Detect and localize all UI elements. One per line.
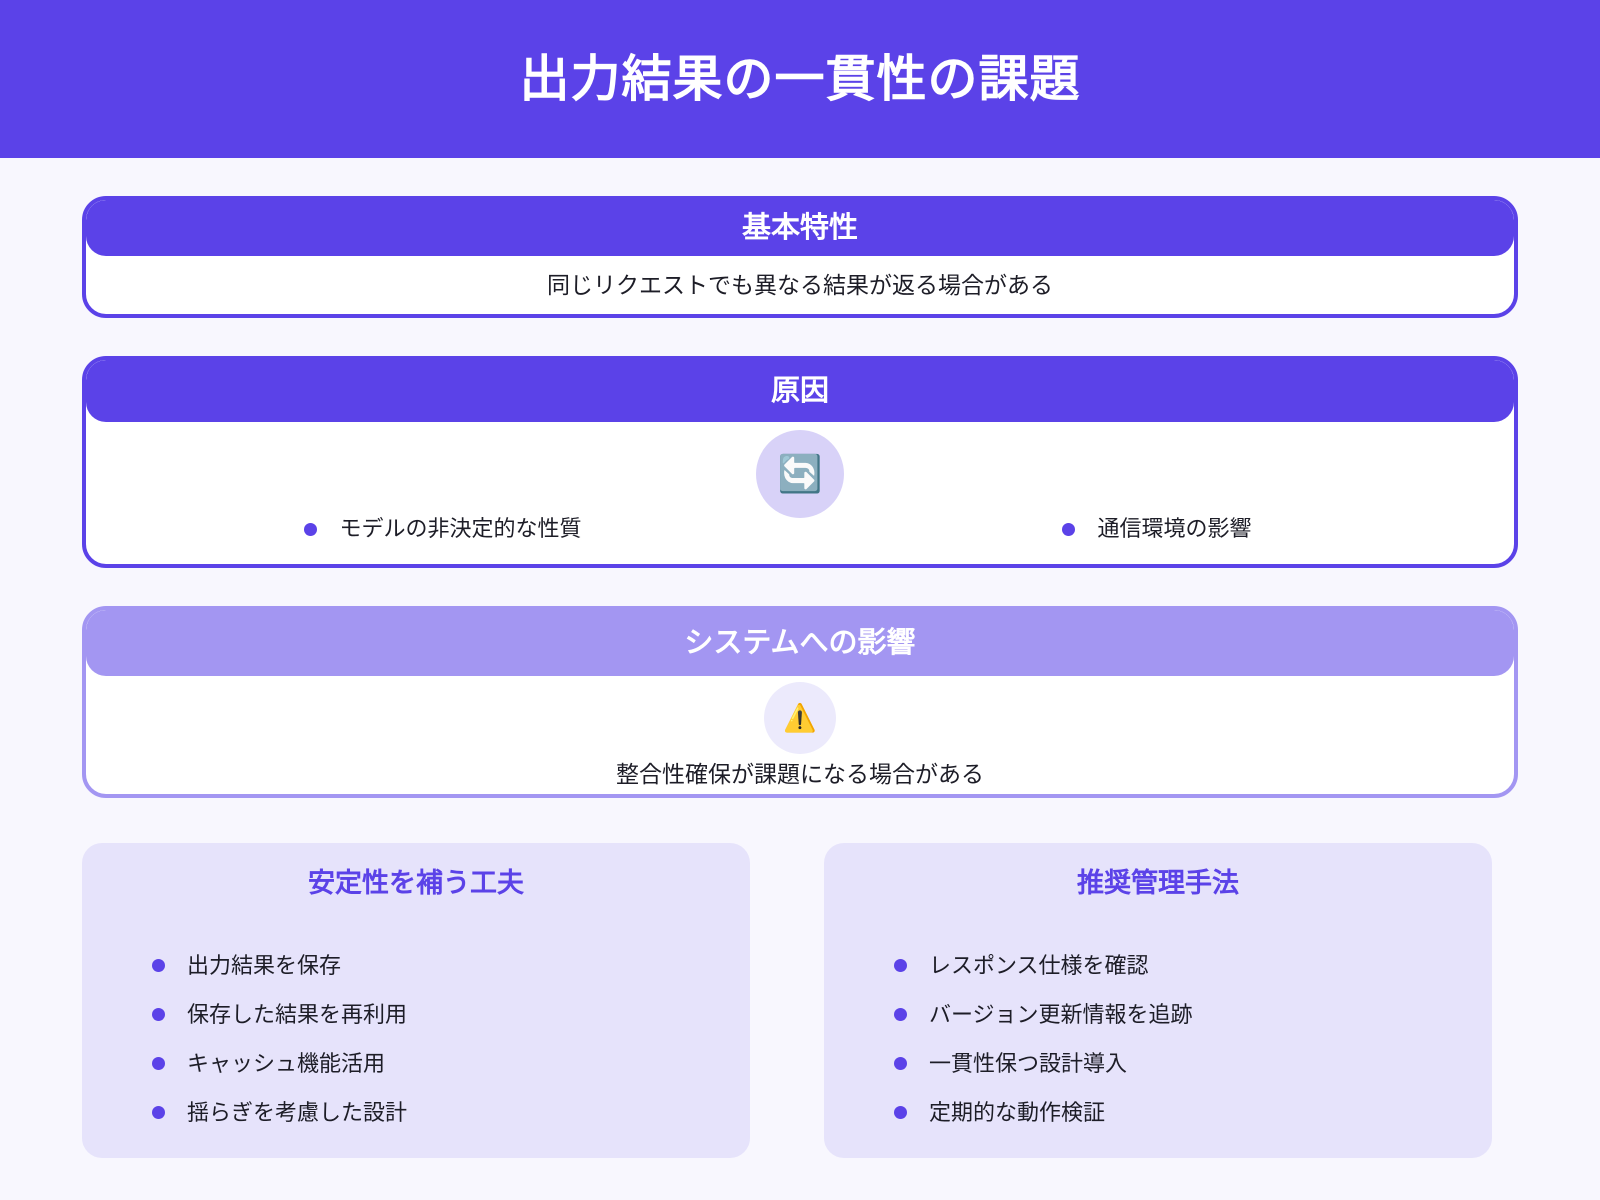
infographic-page: 出力結果の一貫性の課題 基本特性 同じリクエストでも異なる結果が返る場合がある … (0, 0, 1600, 1200)
panel-stability-measures: 安定性を補う工夫 出力結果を保存 保存した結果を再利用 キャッシュ機能活用 揺ら… (82, 843, 750, 1158)
list-item: モデルの非決定的な性質 (304, 518, 581, 540)
bullet-dot-icon (152, 1008, 165, 1021)
card-basic-body: 同じリクエストでも異なる結果が返る場合がある (86, 256, 1514, 314)
list-item-label: レスポンス仕様を確認 (929, 955, 1149, 977)
panel-management-list: レスポンス仕様を確認 バージョン更新情報を追跡 一貫性保つ設計導入 定期的な動作… (824, 897, 1492, 1137)
list-item-label: キャッシュ機能活用 (187, 1053, 385, 1075)
refresh-icon-badge: 🔄 (756, 430, 844, 518)
list-item: キャッシュ機能活用 (152, 1039, 750, 1088)
bullet-dot-icon (152, 1106, 165, 1119)
list-item: 出力結果を保存 (152, 941, 750, 990)
warning-icon-badge: ⚠️ (764, 682, 836, 754)
card-cause-column-right: 通信環境の影響 (800, 518, 1514, 540)
list-item: 通信環境の影響 (1062, 518, 1251, 540)
card-impact-body: ⚠️ 整合性確保が課題になる場合がある (86, 676, 1514, 794)
refresh-icon: 🔄 (778, 456, 823, 492)
card-cause-header: 原因 (86, 360, 1514, 422)
bullet-dot-icon (1062, 523, 1075, 536)
card-cause-column-left: モデルの非決定的な性質 (86, 518, 800, 540)
card-cause: 原因 🔄 モデルの非決定的な性質 通信環境の影響 (82, 356, 1518, 568)
list-item: 保存した結果を再利用 (152, 990, 750, 1039)
bullet-dot-icon (894, 1057, 907, 1070)
card-impact-header: システムへの影響 (86, 610, 1514, 676)
bullet-dot-icon (894, 1106, 907, 1119)
bullet-dot-icon (894, 1008, 907, 1021)
list-item: 一貫性保つ設計導入 (894, 1039, 1492, 1088)
card-cause-item-label: モデルの非決定的な性質 (339, 518, 581, 540)
card-system-impact: システムへの影響 ⚠️ 整合性確保が課題になる場合がある (82, 606, 1518, 798)
list-item: 定期的な動作検証 (894, 1088, 1492, 1137)
card-impact-description: 整合性確保が課題になる場合がある (86, 758, 1514, 790)
list-item-label: 定期的な動作検証 (929, 1102, 1105, 1124)
card-cause-item-label: 通信環境の影響 (1097, 518, 1251, 540)
bullet-dot-icon (894, 959, 907, 972)
list-item: バージョン更新情報を追跡 (894, 990, 1492, 1039)
panel-stability-title: 安定性を補う工夫 (82, 843, 750, 897)
card-basic-header: 基本特性 (86, 200, 1514, 256)
list-item: レスポンス仕様を確認 (894, 941, 1492, 990)
list-item-label: 出力結果を保存 (187, 955, 341, 977)
page-header-banner: 出力結果の一貫性の課題 (0, 0, 1600, 158)
page-title: 出力結果の一貫性の課題 (520, 54, 1081, 104)
panel-recommended-management: 推奨管理手法 レスポンス仕様を確認 バージョン更新情報を追跡 一貫性保つ設計導入… (824, 843, 1492, 1158)
bullet-dot-icon (152, 959, 165, 972)
panel-management-title: 推奨管理手法 (824, 843, 1492, 897)
list-item: 揺らぎを考慮した設計 (152, 1088, 750, 1137)
warning-icon: ⚠️ (783, 705, 817, 732)
card-basic-description: 同じリクエストでも異なる結果が返る場合がある (547, 269, 1053, 301)
list-item-label: バージョン更新情報を追跡 (929, 1004, 1193, 1026)
card-basic-characteristics: 基本特性 同じリクエストでも異なる結果が返る場合がある (82, 196, 1518, 318)
card-impact-text-wrap: 整合性確保が課題になる場合がある (86, 758, 1514, 790)
card-cause-body: 🔄 モデルの非決定的な性質 通信環境の影響 (86, 422, 1514, 564)
list-item-label: 一貫性保つ設計導入 (929, 1053, 1127, 1075)
bullet-dot-icon (304, 523, 317, 536)
list-item-label: 保存した結果を再利用 (187, 1004, 407, 1026)
panel-stability-list: 出力結果を保存 保存した結果を再利用 キャッシュ機能活用 揺らぎを考慮した設計 (82, 897, 750, 1137)
card-cause-bullet-list: モデルの非決定的な性質 通信環境の影響 (86, 518, 1514, 540)
list-item-label: 揺らぎを考慮した設計 (187, 1102, 407, 1124)
bullet-dot-icon (152, 1057, 165, 1070)
